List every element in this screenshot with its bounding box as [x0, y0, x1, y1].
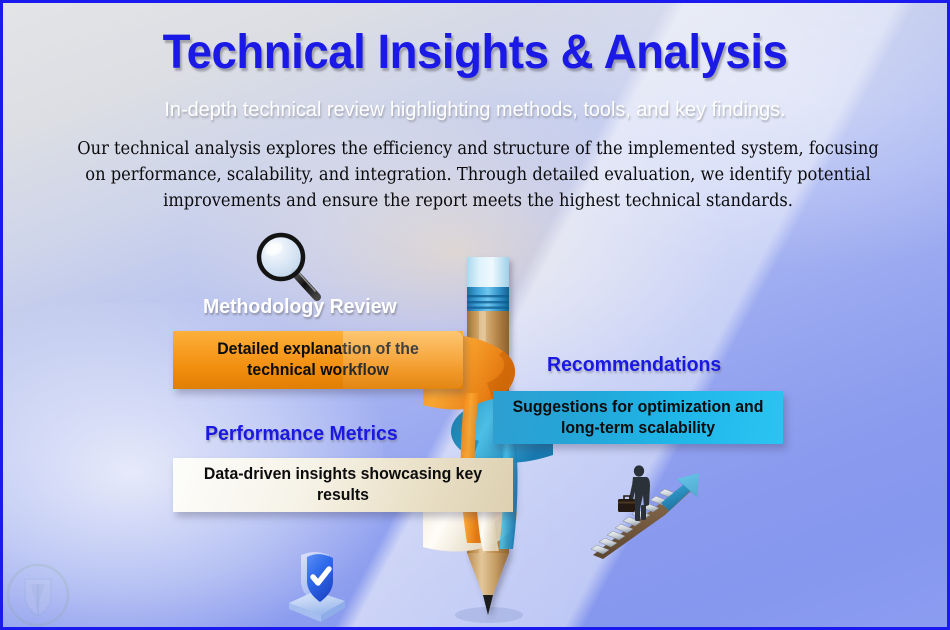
- growth-stairs-arrow-icon: [587, 455, 709, 567]
- page-subtitle: In-depth technical review highlighting m…: [17, 98, 933, 122]
- callout-text-recommendations: Suggestions for optimization and long-te…: [508, 397, 767, 439]
- magnifier-icon: [251, 229, 331, 307]
- callout-box-methodology[interactable]: Detailed explanation of the technical wo…: [173, 331, 463, 389]
- shield-circle-watermark: [0, 559, 79, 630]
- callout-box-recommendations[interactable]: Suggestions for optimization and long-te…: [493, 391, 783, 444]
- infographic-canvas: Technical Insights & Analysis In-depth t…: [0, 0, 950, 630]
- callout-heading-performance: Performance Metrics: [205, 422, 398, 446]
- shield-check-icon: [271, 543, 359, 625]
- callout-text-performance: Data-driven insights showcasing key resu…: [189, 464, 496, 506]
- intro-paragraph: Our technical analysis explores the effi…: [66, 136, 890, 214]
- callout-heading-recommendations: Recommendations: [547, 353, 721, 377]
- callout-text-methodology: Detailed explanation of the technical wo…: [188, 339, 447, 381]
- page-title: Technical Insights & Analysis: [27, 25, 924, 80]
- callout-box-performance[interactable]: Data-driven insights showcasing key resu…: [173, 458, 513, 512]
